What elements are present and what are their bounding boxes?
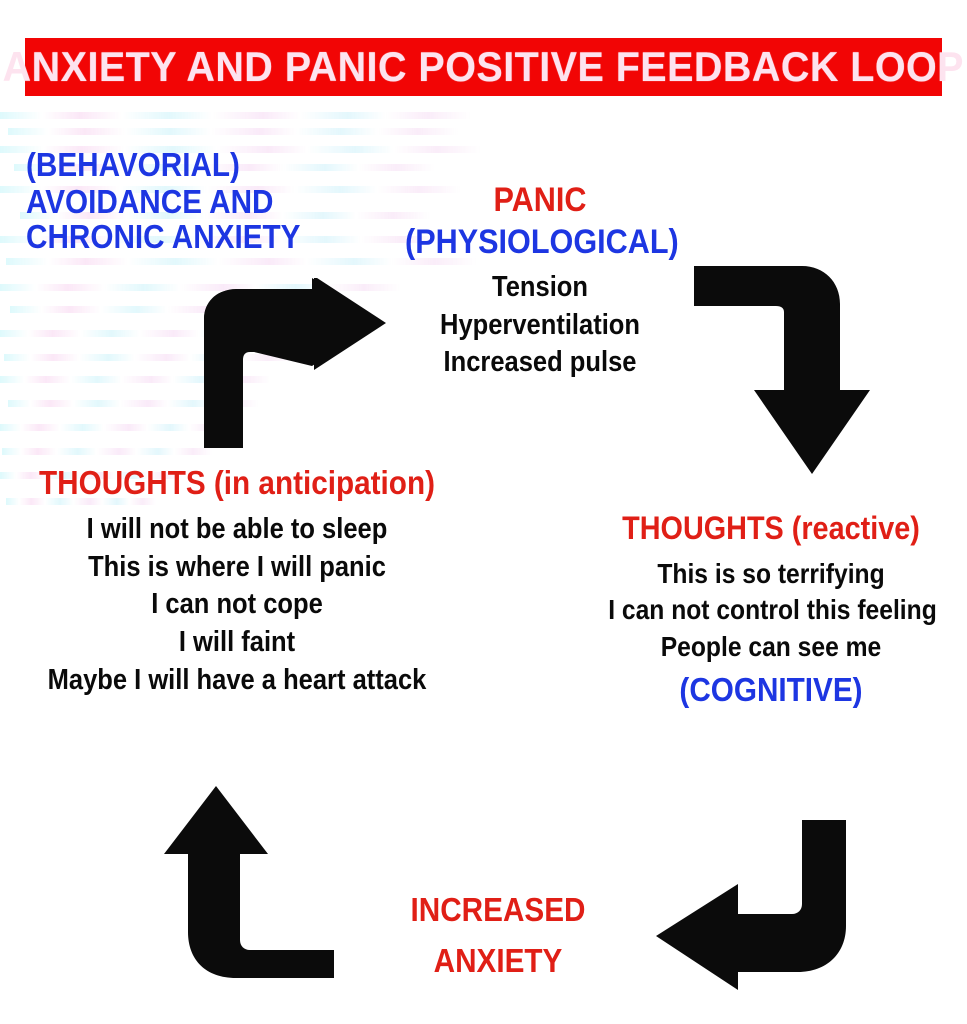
- list-item: I can not cope: [39, 586, 435, 624]
- list-item: I can not control this feeling: [608, 592, 934, 628]
- list-item: I will faint: [39, 624, 435, 662]
- list-item: This is where I will panic: [39, 549, 435, 587]
- arrow-up-right-icon: [190, 278, 390, 448]
- node-panic: PANIC (PHYSIOLOGICAL) Tension Hyperventi…: [390, 182, 690, 382]
- anticipation-thought-list: I will not be able to sleep This is wher…: [12, 511, 462, 699]
- reactive-thought-list: This is so terrifying I can not control …: [586, 556, 956, 665]
- behavioral-line-1: (BEHAVORIAL): [26, 148, 300, 183]
- list-item: Hyperventilation: [408, 307, 672, 345]
- behavioral-line-3: CHRONIC ANXIETY: [26, 220, 300, 255]
- list-item: Increased pulse: [408, 344, 672, 382]
- reactive-heading: THOUGHTS (reactive): [605, 512, 938, 546]
- diagram-title-banner: ANXIETY AND PANIC POSITIVE FEEDBACK LOOP: [25, 38, 942, 96]
- list-item: People can see me: [608, 629, 934, 665]
- node-thoughts-anticipation: THOUGHTS (in anticipation) I will not be…: [12, 466, 462, 699]
- feedback-loop-diagram: ANXIETY AND PANIC POSITIVE FEEDBACK LOOP…: [0, 0, 967, 1024]
- arrow-left-up-icon: [158, 782, 348, 982]
- page-title: ANXIETY AND PANIC POSITIVE FEEDBACK LOOP: [3, 46, 964, 88]
- arrow-down-left-icon: [646, 814, 856, 994]
- list-item: Tension: [408, 269, 672, 307]
- reactive-subheading: (COGNITIVE): [605, 673, 938, 708]
- node-behavioral-avoidance: (BEHAVORIAL) AVOIDANCE AND CHRONIC ANXIE…: [26, 148, 331, 255]
- panic-symptom-list: Tension Hyperventilation Increased pulse: [390, 269, 690, 382]
- panic-subheading: (PHYSIOLOGICAL): [405, 224, 675, 260]
- anticipation-heading: THOUGHTS (in anticipation): [35, 466, 440, 501]
- panic-heading: PANIC: [405, 182, 675, 218]
- behavioral-line-2: AVOIDANCE AND: [26, 185, 300, 220]
- arrow-right-down-icon: [684, 258, 884, 478]
- list-item: Maybe I will have a heart attack: [39, 662, 435, 700]
- increased-anxiety-line-1: INCREASED: [381, 884, 615, 935]
- node-thoughts-reactive: THOUGHTS (reactive) This is so terrifyin…: [586, 512, 956, 708]
- list-item: This is so terrifying: [608, 556, 934, 592]
- list-item: I will not be able to sleep: [39, 511, 435, 549]
- increased-anxiety-line-2: ANXIETY: [381, 935, 615, 986]
- node-increased-anxiety: INCREASED ANXIETY: [368, 884, 628, 986]
